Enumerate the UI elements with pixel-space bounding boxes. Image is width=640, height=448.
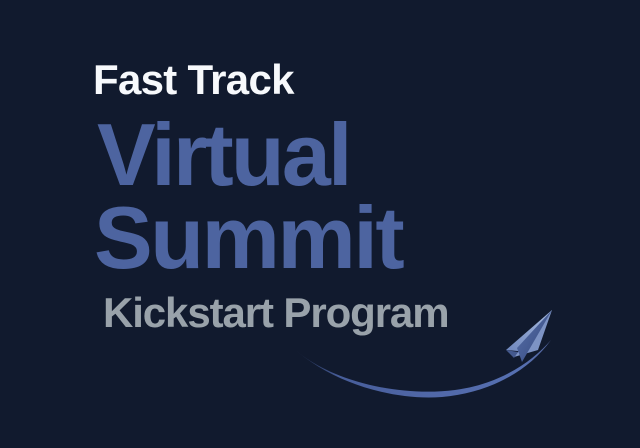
headline-line-1: Virtual [97,111,350,199]
paper-plane [506,310,552,362]
plane-keel [517,310,552,362]
headline-line-2: Summit [94,194,402,282]
subline-text: Kickstart Program [103,292,448,334]
eyebrow-text: Fast Track [93,59,294,101]
swoosh-arc [292,340,551,397]
poster-canvas: Fast Track Virtual Summit Kickstart Prog… [0,0,640,448]
plane-main-wing [514,310,552,357]
plane-upper-wing [506,310,552,352]
plane-tail-notch [506,350,518,358]
